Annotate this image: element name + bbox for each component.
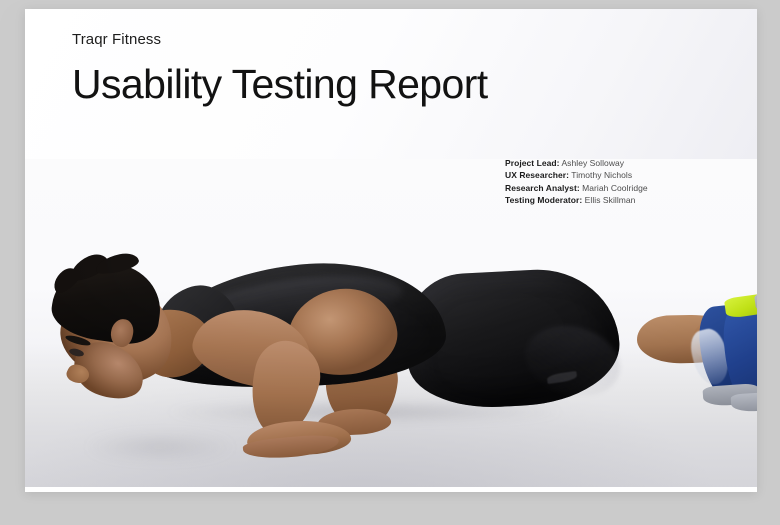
cover-photo (25, 159, 757, 492)
credit-row: Project Lead: Ashley Solloway (505, 157, 648, 169)
page-title: Usability Testing Report (72, 63, 488, 106)
credit-name: Mariah Coolridge (582, 183, 648, 193)
credit-row: Testing Moderator: Ellis Skillman (505, 194, 648, 206)
head-contact-shadow (55, 427, 265, 467)
page-bottom-edge (25, 487, 757, 492)
credit-role: Project Lead: (505, 158, 560, 168)
neon-ankle-strap (724, 291, 757, 319)
credit-role: UX Researcher: (505, 170, 569, 180)
credit-role: Testing Moderator: (505, 195, 582, 205)
credit-row: Research Analyst: Mariah Coolridge (505, 182, 648, 194)
credit-row: UX Researcher: Timothy Nichols (505, 169, 648, 181)
report-cover-page: Traqr Fitness Usability Testing Report P… (25, 9, 757, 492)
credit-name: Timothy Nichols (571, 170, 632, 180)
cover-header: Traqr Fitness Usability Testing Report (72, 32, 488, 106)
credits-block: Project Lead: Ashley Solloway UX Researc… (505, 157, 648, 206)
brand-name: Traqr Fitness (72, 32, 488, 49)
shoe-sole-front (731, 392, 757, 413)
credit-role: Research Analyst: (505, 183, 580, 193)
credit-name: Ashley Solloway (561, 158, 624, 168)
athlete-figure (25, 159, 757, 492)
credit-name: Ellis Skillman (585, 195, 636, 205)
